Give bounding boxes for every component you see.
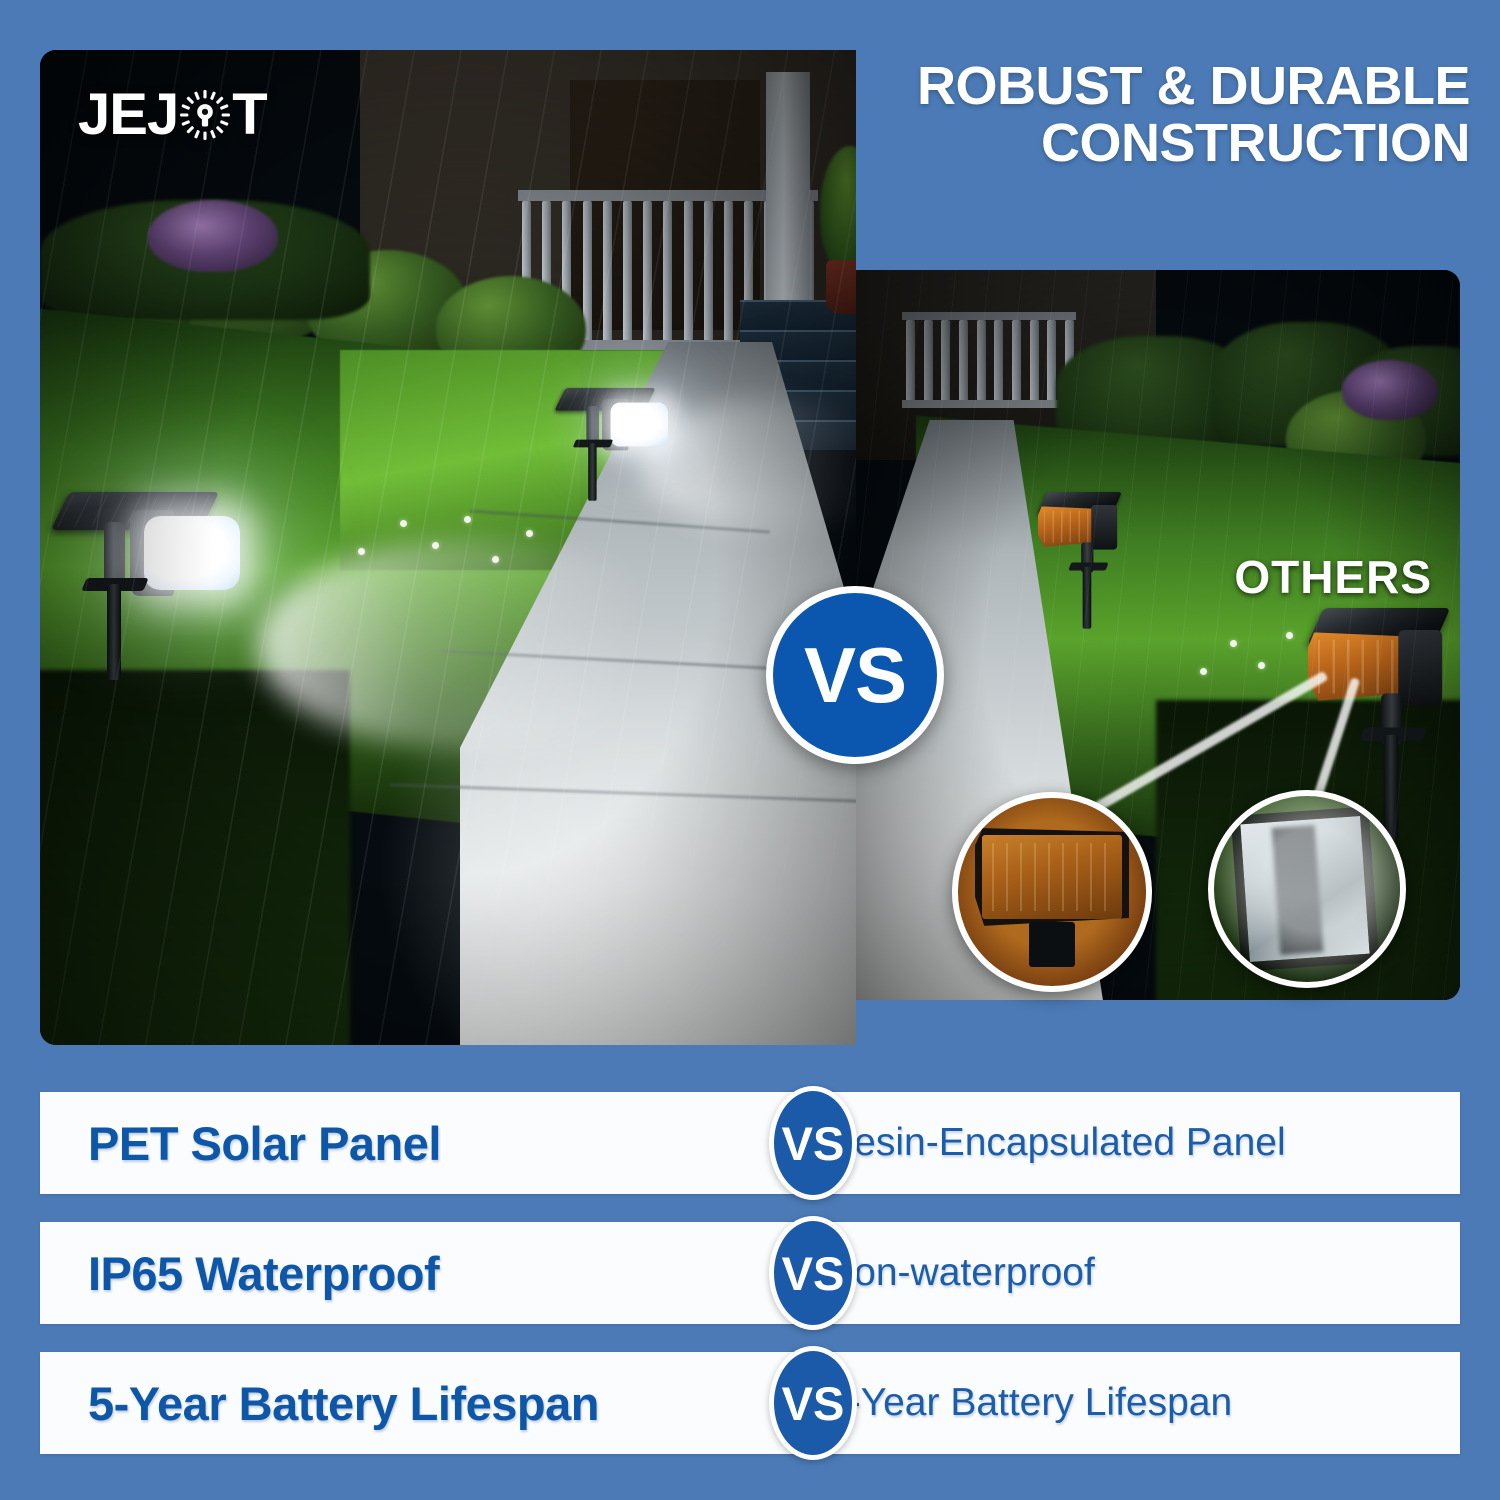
vs-badge-main: VS bbox=[766, 586, 944, 764]
lens-mount-bracket bbox=[1029, 922, 1074, 967]
brand-name-part1: JEJ bbox=[78, 86, 178, 144]
row-right-feature: Resin-Encapsulated Panel bbox=[780, 1121, 1460, 1165]
row-right-feature: Non-waterproof bbox=[780, 1251, 1460, 1295]
row-right-feature: 1-Year Battery Lifespan bbox=[780, 1381, 1460, 1425]
row-left-feature: PET Solar Panel bbox=[40, 1116, 780, 1171]
sunburst-bulb-icon bbox=[179, 89, 231, 141]
comparison-row: 5-Year Battery Lifespan VS 1-Year Batter… bbox=[40, 1352, 1460, 1454]
panel-frost-overlay bbox=[1214, 796, 1400, 982]
comparison-row: IP65 Waterproof VS Non-waterproof bbox=[40, 1222, 1460, 1324]
brand-name-part2: T bbox=[232, 86, 266, 144]
row-left-feature: 5-Year Battery Lifespan bbox=[40, 1376, 780, 1431]
row-vs-badge: VS bbox=[769, 1086, 857, 1200]
row-vs-badge: VS bbox=[769, 1346, 857, 1460]
comparison-row: PET Solar Panel VS Resin-Encapsulated Pa… bbox=[40, 1092, 1460, 1194]
vignette-left bbox=[40, 50, 856, 1045]
degraded-cloudy-solar-panel-inset bbox=[1208, 790, 1406, 988]
row-vs-badge: VS bbox=[769, 1216, 857, 1330]
comparison-photo-stage: OTHERS bbox=[40, 50, 1460, 1045]
water-damaged-amber-lens-inset bbox=[952, 792, 1152, 992]
jejot-product-photo bbox=[40, 50, 856, 1045]
row-left-feature: IP65 Waterproof bbox=[40, 1246, 780, 1301]
damaged-lens-plate bbox=[975, 828, 1129, 926]
brand-logo: JEJ bbox=[78, 86, 267, 144]
others-label: OTHERS bbox=[1234, 550, 1432, 604]
comparison-rows: PET Solar Panel VS Resin-Encapsulated Pa… bbox=[40, 1092, 1460, 1454]
